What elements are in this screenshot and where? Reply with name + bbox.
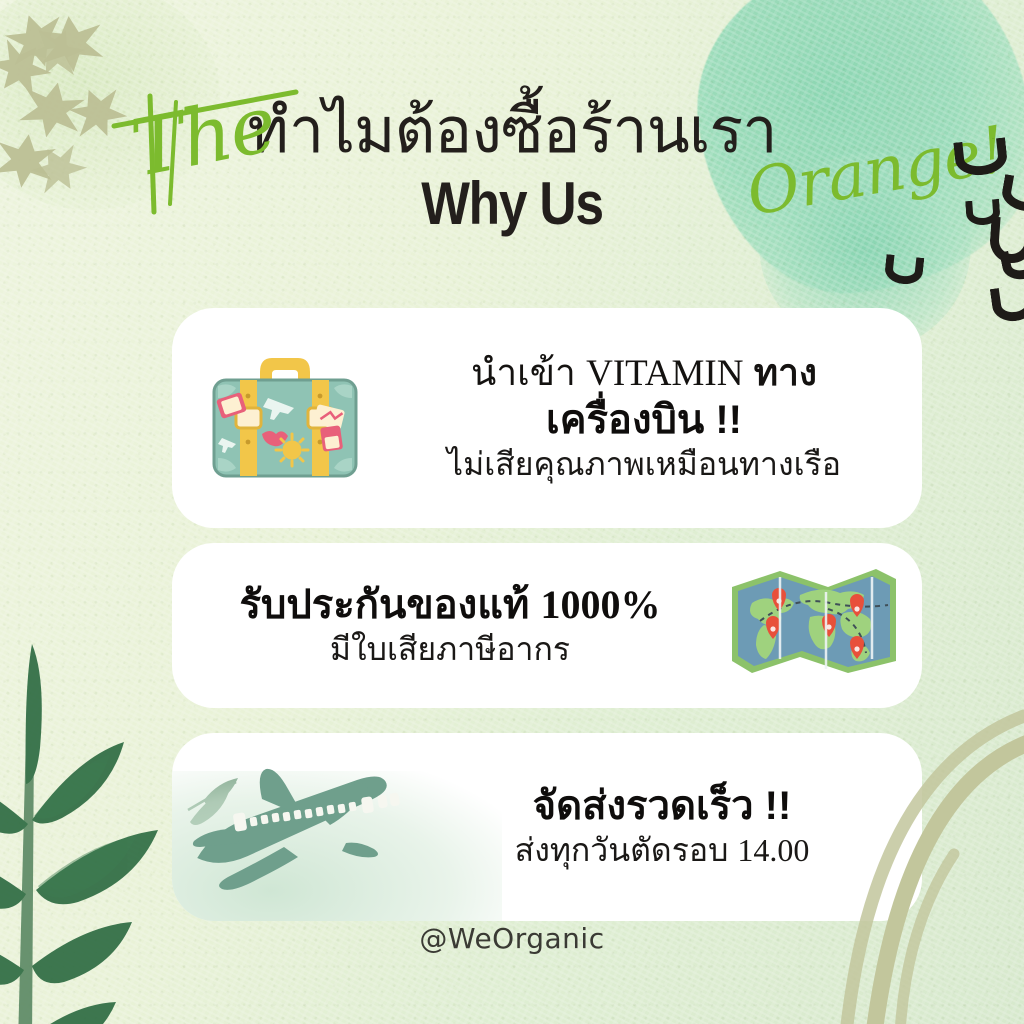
card-shipping-line3: ส่งทุกวันตัดรอบ 14.00 [412,830,912,872]
feature-card-vitamin[interactable]: นำเข้า VITAMIN ทาง เครื่องบิน !! ไม่เสีย… [172,308,922,528]
feature-card-authentic[interactable]: รับประกันของแท้ 1000% มีใบเสียภาษีอากร [172,543,922,708]
card-shipping-text: จัดส่งรวดเร็ว !! ส่งทุกวันตัดรอบ 14.00 [412,782,912,872]
airplane-icon [172,755,416,905]
world-map-icon [724,561,904,681]
suitcase-icon [200,342,370,492]
footer-handle: @WeOrganic [0,922,1024,955]
card-authentic-line3: มีใบเสียภาษีอากร [190,629,710,671]
feature-card-shipping[interactable]: จัดส่งรวดเร็ว !! ส่งทุกวันตัดรอบ 14.00 [172,733,922,921]
card-vitamin-text: นำเข้า VITAMIN ทาง เครื่องบิน !! ไม่เสีย… [384,350,904,486]
card-authentic-text: รับประกันของแท้ 1000% มีใบเสียภาษีอากร [190,581,710,671]
card-vitamin-line2: เครื่องบิน !! [384,396,904,444]
poster-canvas: The ทำไมต้องซื้อร้านเรา Why Us Orange! [0,0,1024,1024]
card-vitamin-line3: ไม่เสียคุณภาพเหมือนทางเรือ [384,444,904,486]
card-shipping-line2: จัดส่งรวดเร็ว !! [412,782,912,830]
brush-stroke-mark [990,283,1024,324]
card-authentic-line1: รับประกันของแท้ 1000% [190,581,710,629]
card-vitamin-line1: นำเข้า VITAMIN ทาง [384,350,904,396]
